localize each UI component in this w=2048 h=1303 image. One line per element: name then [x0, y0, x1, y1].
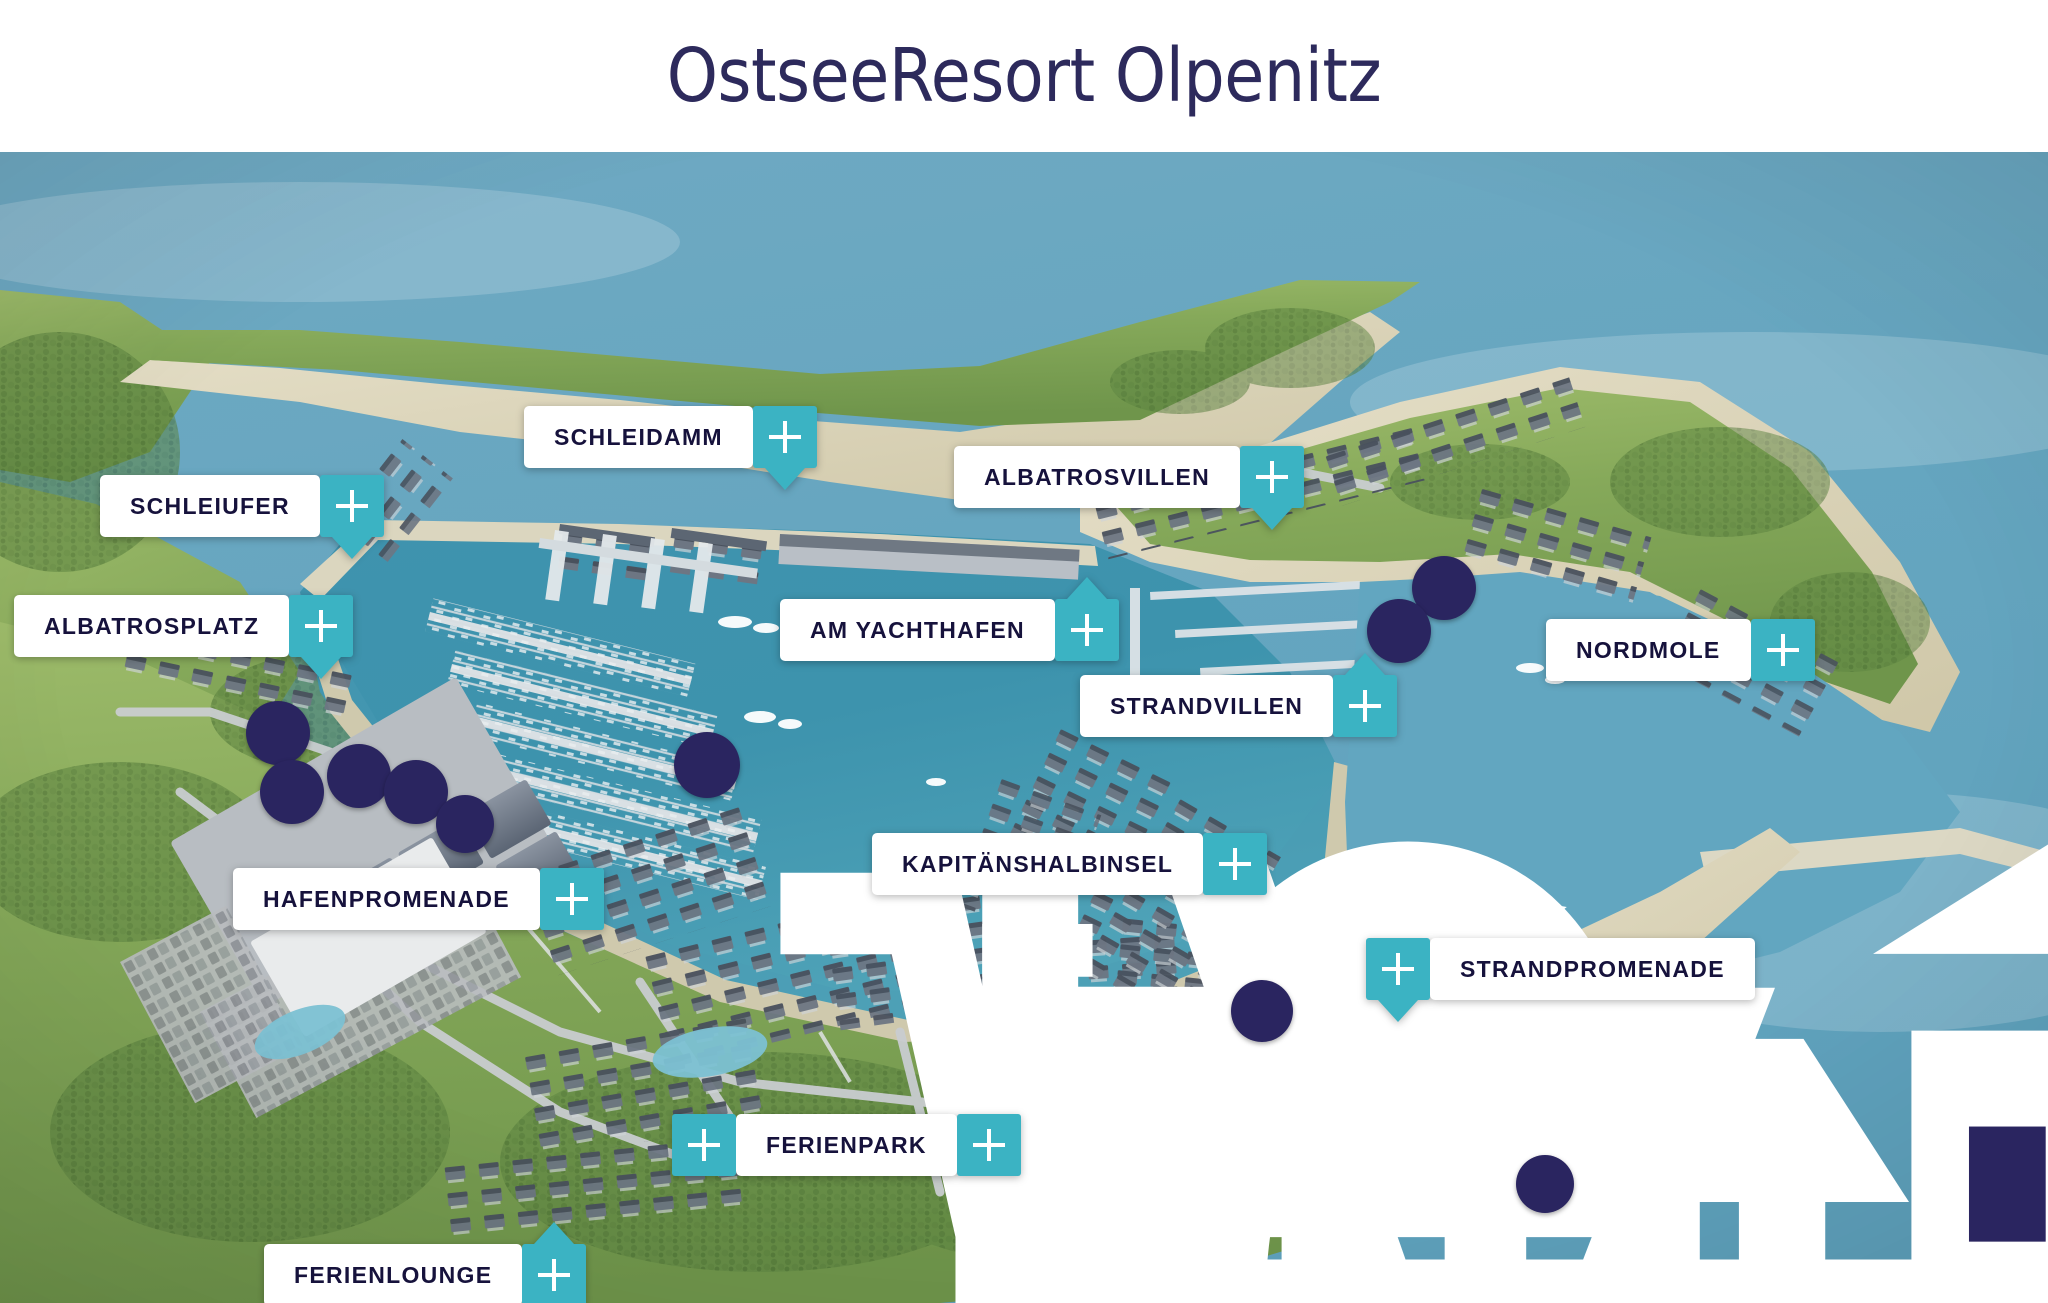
- expand-plus-button-left[interactable]: [672, 1114, 736, 1176]
- expand-plus-button[interactable]: [1366, 938, 1430, 1000]
- map-label-ferienlounge[interactable]: FERIENLOUNGE: [264, 1244, 586, 1303]
- map-label-box: ALBATROSPLATZ: [14, 595, 289, 657]
- expand-plus-button[interactable]: [1751, 619, 1815, 681]
- map-label-kapitaenshalbinsel[interactable]: KAPITÄNSHALBINSEL: [872, 833, 1267, 895]
- expand-plus-button[interactable]: [522, 1244, 586, 1303]
- map-label-hafenpromenade[interactable]: HAFENPROMENADE: [233, 868, 604, 930]
- map-label-text: ALBATROSVILLEN: [984, 464, 1210, 491]
- title-bar: OstseeResort Olpenitz: [0, 0, 2048, 152]
- page-title: OstseeResort Olpenitz: [667, 39, 1382, 113]
- map-label-box: HAFENPROMENADE: [233, 868, 540, 930]
- map-label-text: FERIENPARK: [766, 1132, 927, 1159]
- map-label-box: FERIENPARK: [736, 1114, 957, 1176]
- map-label-strandvillen[interactable]: STRANDVILLEN: [1080, 675, 1397, 737]
- map-label-box: ALBATROSVILLEN: [954, 446, 1240, 508]
- poi-boat-crane-icon[interactable]: [436, 795, 494, 853]
- expand-plus-button-right[interactable]: [957, 1114, 1021, 1176]
- map-label-text: SCHLEIDAMM: [554, 424, 723, 451]
- poi-f-logo-icon[interactable]: [327, 744, 391, 808]
- map-label-text: SCHLEIUFER: [130, 493, 290, 520]
- map-label-am-yachthafen[interactable]: AM YACHTHAFEN: [780, 599, 1119, 661]
- poi-water-slide-icon[interactable]: [246, 701, 310, 765]
- expand-plus-button[interactable]: [540, 868, 604, 930]
- map-label-schleidamm[interactable]: SCHLEIDAMM: [524, 406, 817, 468]
- beach-umbrella-icon: [1516, 1155, 2048, 1303]
- map-label-text: NORDMOLE: [1576, 637, 1721, 664]
- expand-plus-button[interactable]: [1240, 446, 1304, 508]
- map-label-schleiufer[interactable]: SCHLEIUFER: [100, 475, 384, 537]
- map-label-nordmole[interactable]: NORDMOLE: [1546, 619, 1815, 681]
- map-label-strandpromenade[interactable]: STRANDPROMENADE: [1366, 938, 1755, 1000]
- expand-plus-button[interactable]: [1203, 833, 1267, 895]
- expand-plus-button[interactable]: [320, 475, 384, 537]
- expand-plus-button[interactable]: [1055, 599, 1119, 661]
- expand-plus-button[interactable]: [1333, 675, 1397, 737]
- map-label-box: KAPITÄNSHALBINSEL: [872, 833, 1203, 895]
- map-label-text: ALBATROSPLATZ: [44, 613, 259, 640]
- map-label-albatrosvillen[interactable]: ALBATROSVILLEN: [954, 446, 1304, 508]
- map-label-text: STRANDVILLEN: [1110, 693, 1303, 720]
- expand-plus-button[interactable]: [289, 595, 353, 657]
- poi-beach-umbrella-icon[interactable]: [1516, 1155, 1574, 1213]
- map-label-box: AM YACHTHAFEN: [780, 599, 1055, 661]
- map-label-box: SCHLEIUFER: [100, 475, 320, 537]
- map-label-text: STRANDPROMENADE: [1460, 956, 1725, 983]
- map-label-box: STRANDPROMENADE: [1430, 938, 1755, 1000]
- map-label-text: KAPITÄNSHALBINSEL: [902, 851, 1173, 878]
- map-label-box: NORDMOLE: [1546, 619, 1751, 681]
- map-label-text: FERIENLOUNGE: [294, 1262, 492, 1289]
- poi-yacht-icon[interactable]: [674, 732, 740, 798]
- map-label-box: STRANDVILLEN: [1080, 675, 1333, 737]
- map-label-box: FERIENLOUNGE: [264, 1244, 522, 1303]
- map-label-text: HAFENPROMENADE: [263, 886, 510, 913]
- resort-map[interactable]: SCHLEIDAMM ALBATROSVILLEN SCHLEIUFER ALB…: [0, 152, 2048, 1303]
- map-label-albatrosplatz[interactable]: ALBATROSPLATZ: [14, 595, 353, 657]
- map-label-ferienpark[interactable]: FERIENPARK: [672, 1114, 1021, 1176]
- poi-golf-flag-icon[interactable]: [1231, 980, 1293, 1042]
- page-root: OstseeResort Olpenitz: [0, 0, 2048, 1303]
- map-label-text: AM YACHTHAFEN: [810, 617, 1025, 644]
- map-label-box: SCHLEIDAMM: [524, 406, 753, 468]
- poi-shopping-cart-icon[interactable]: [260, 760, 324, 824]
- expand-plus-button[interactable]: [753, 406, 817, 468]
